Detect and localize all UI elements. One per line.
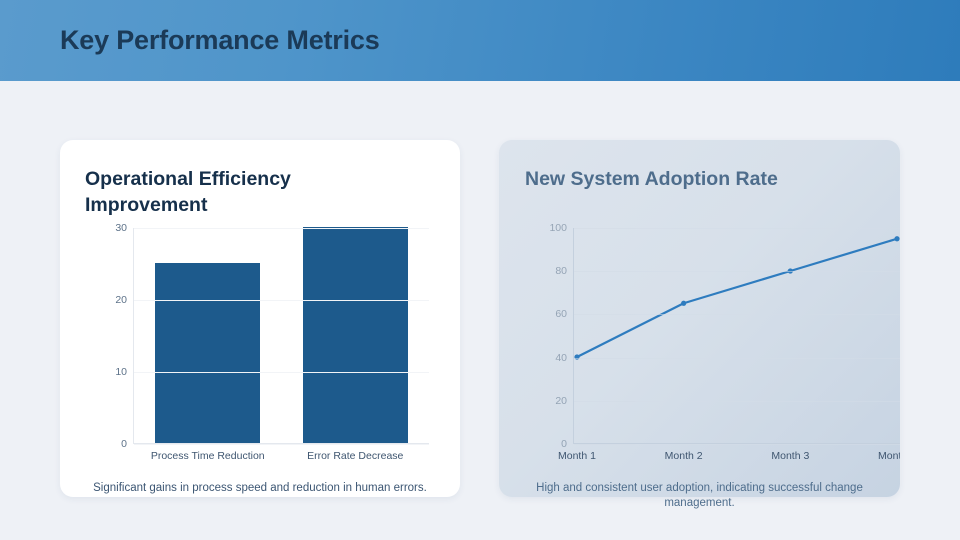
bar-chart-gridline: 0 — [134, 444, 429, 445]
bar-chart-x-tick-label: Error Rate Decrease — [307, 450, 403, 462]
line-chart-gridline: 0 — [574, 444, 900, 445]
line-chart-y-tick-label: 80 — [555, 265, 567, 277]
line-chart-gridline: 100 — [574, 228, 900, 229]
bar-chart-y-tick-label: 10 — [115, 366, 127, 378]
line-chart-y-tick-label: 100 — [549, 222, 567, 234]
page-header: Key Performance Metrics — [0, 0, 960, 81]
bar-chart-y-tick-label: 0 — [121, 438, 127, 450]
metric-card-adoption-rate: New System Adoption Rate Month 1: 40Mont… — [499, 140, 900, 497]
line-chart-gridline: 40 — [574, 358, 900, 359]
caption-operational-efficiency: Significant gains in process speed and r… — [60, 481, 460, 496]
caption-adoption-rate: High and consistent user adoption, indic… — [499, 481, 900, 511]
bar-chart-gridline: 20 — [134, 300, 429, 301]
line-chart-x-tick-label: Month 3 — [771, 450, 809, 462]
metric-card-operational-efficiency: Operational Efficiency Improvement Proce… — [60, 140, 460, 497]
bar-chart-y-tick-label: 30 — [115, 222, 127, 234]
bar-slot: Process Time Reduction — [143, 228, 273, 443]
line-chart-x-tick-label: Month 2 — [665, 450, 703, 462]
line-chart-y-tick-label: 60 — [555, 308, 567, 320]
line-chart-gridline: 20 — [574, 401, 900, 402]
page-title: Key Performance Metrics — [60, 25, 380, 56]
line-chart-y-tick-label: 40 — [555, 352, 567, 364]
bar-chart-gridline: 10 — [134, 372, 429, 373]
bar-chart-plot-area: Process Time ReductionError Rate Decreas… — [133, 228, 429, 444]
bar-chart-y-tick-label: 20 — [115, 294, 127, 306]
line-chart-gridline: 60 — [574, 314, 900, 315]
line-chart-gridline: 80 — [574, 271, 900, 272]
adoption-rate-line-series: Month 1: 40Month 2: 65Month 3: 80Month 4… — [574, 228, 900, 443]
card-title-adoption-rate: New System Adoption Rate — [525, 166, 865, 192]
line-chart-y-tick-label: 20 — [555, 395, 567, 407]
bar-chart-x-tick-label: Process Time Reduction — [151, 450, 265, 462]
line-chart-x-tick-label: Month 1 — [558, 450, 596, 462]
line-data-point[interactable]: Month 2: 65 — [681, 301, 686, 306]
bar[interactable] — [155, 263, 260, 443]
bar-chart-operational-efficiency: Process Time ReductionError Rate Decreas… — [85, 218, 445, 462]
line-data-point[interactable]: Month 4: 95 — [894, 236, 899, 241]
bar-series: Process Time ReductionError Rate Decreas… — [134, 228, 429, 443]
line-path — [577, 239, 897, 357]
card-title-operational-efficiency: Operational Efficiency Improvement — [85, 166, 375, 218]
bar[interactable] — [303, 227, 408, 443]
line-chart-x-axis-labels: Month 1Month 2Month 3Month 4 — [574, 450, 900, 466]
line-chart-y-tick-label: 0 — [561, 438, 567, 450]
line-chart-plot-area: Month 1: 40Month 2: 65Month 3: 80Month 4… — [573, 228, 900, 444]
bar-chart-gridline: 30 — [134, 228, 429, 229]
line-chart-adoption-rate: Month 1: 40Month 2: 65Month 3: 80Month 4… — [525, 218, 900, 462]
bar-slot: Error Rate Decrease — [290, 228, 420, 443]
line-chart-x-tick-label: Month 4 — [878, 450, 900, 462]
